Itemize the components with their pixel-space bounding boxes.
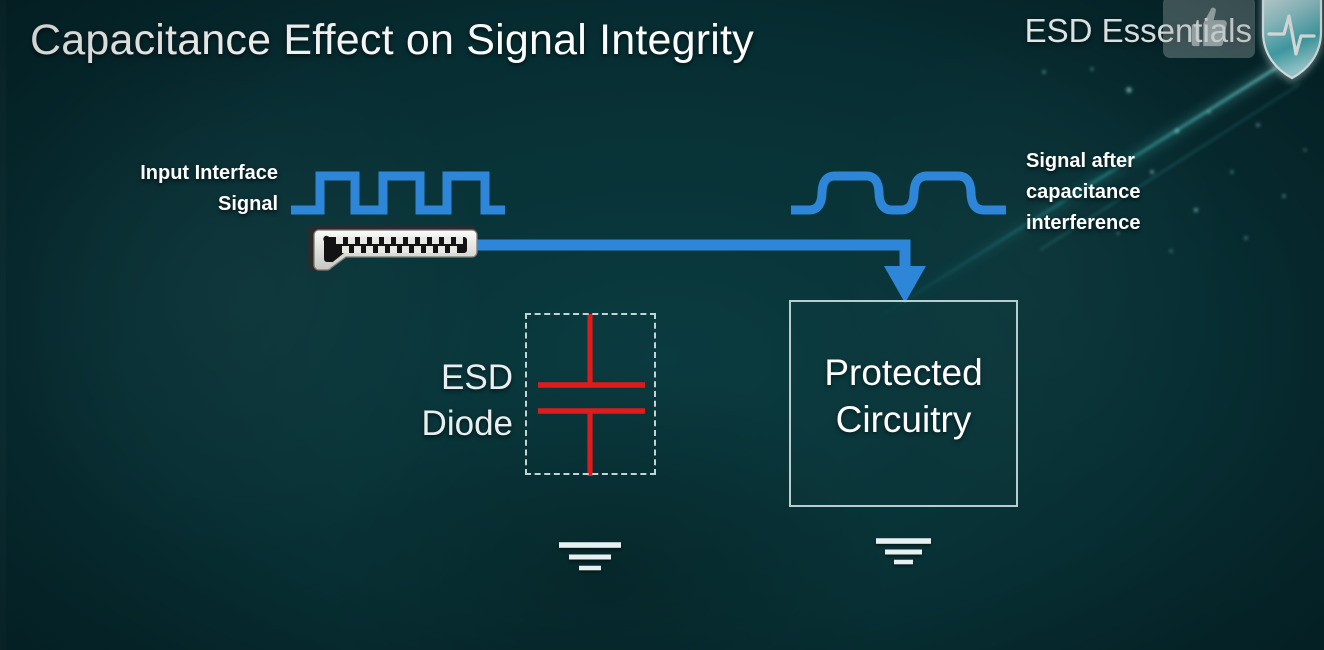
connector-layer bbox=[0, 0, 1324, 650]
slide-canvas: Capacitance Effect on Signal Integrity E… bbox=[0, 0, 1324, 650]
hdmi-connector-icon bbox=[308, 226, 477, 272]
